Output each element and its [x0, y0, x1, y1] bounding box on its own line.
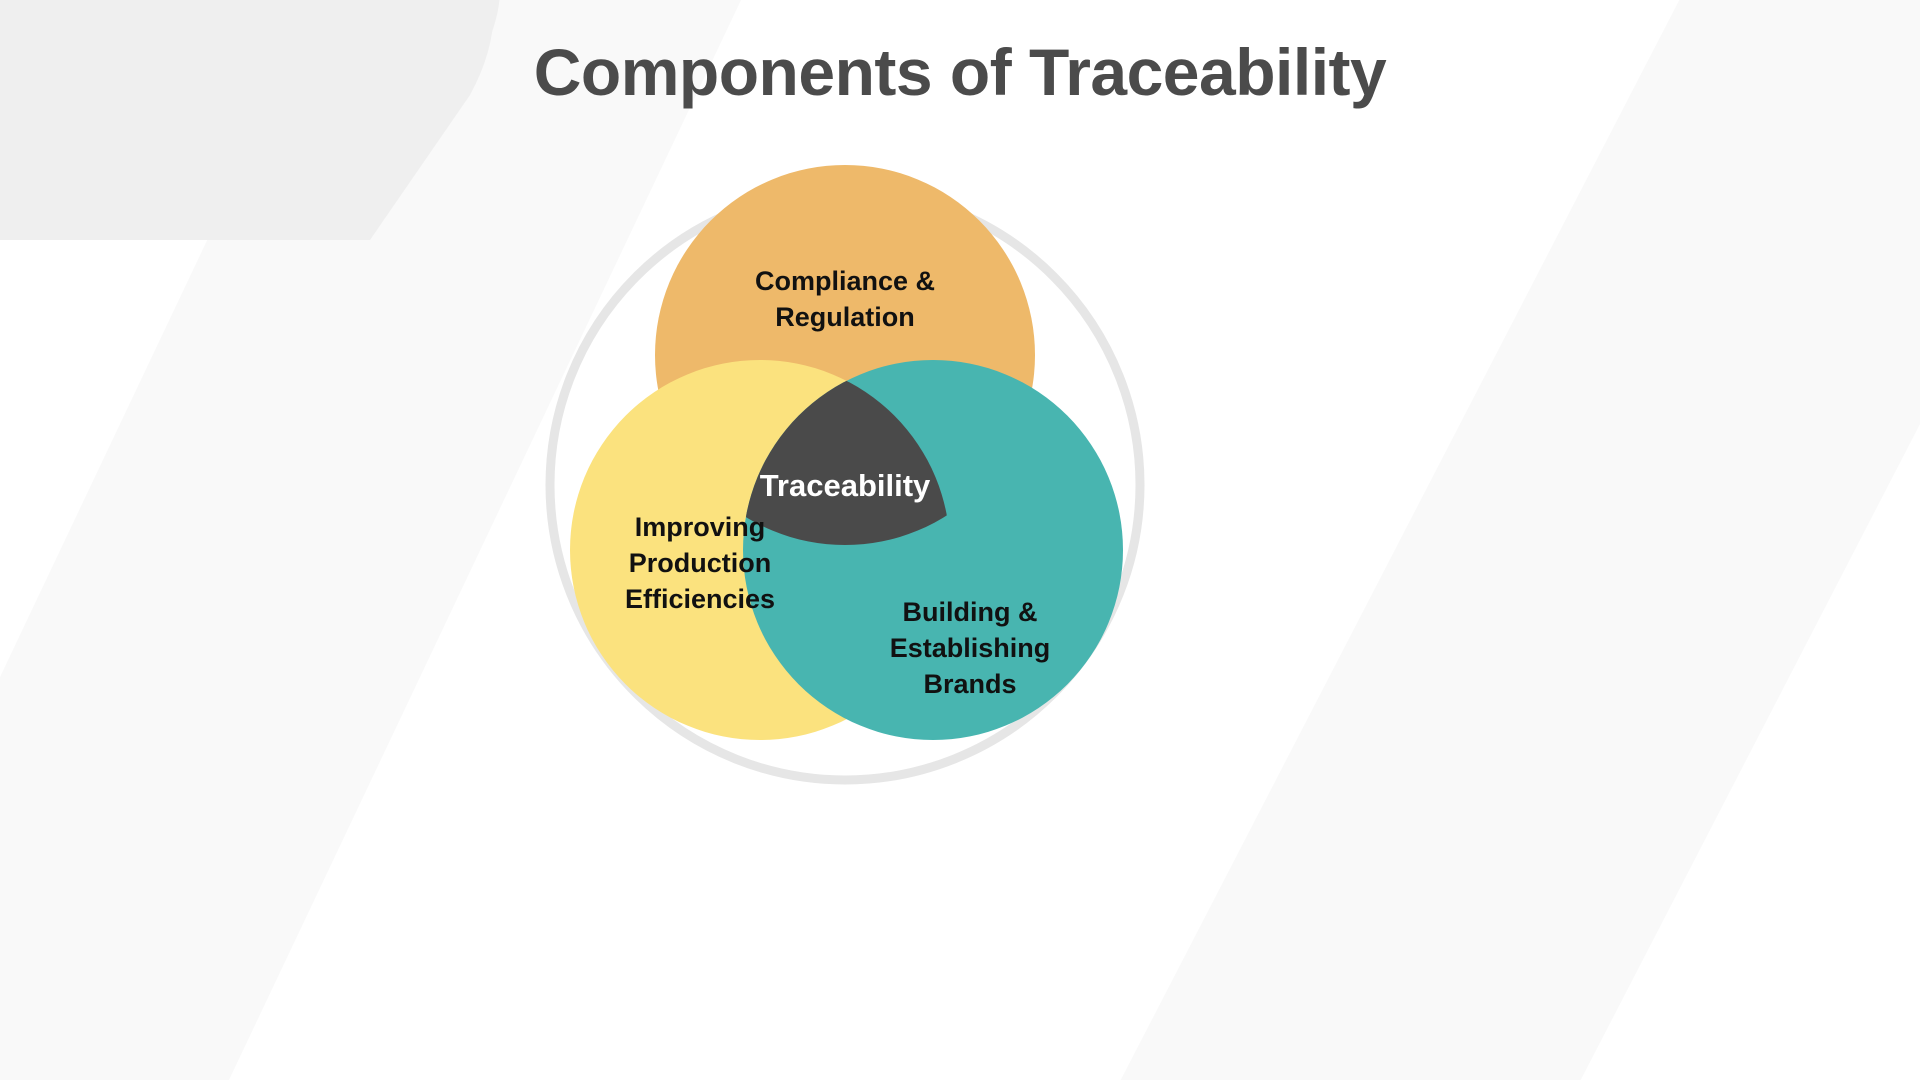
diagonal-stripe-right	[1100, 0, 1920, 1080]
venn-label-brands-line-3: Brands	[923, 669, 1016, 699]
venn-svg: Compliance & Regulation Improving Produc…	[515, 130, 1175, 850]
venn-label-brands-line-1: Building &	[903, 597, 1038, 627]
venn-label-efficiencies-line-3: Efficiencies	[625, 584, 775, 614]
venn-label-compliance-line-1: Compliance &	[755, 266, 935, 296]
venn-label-brands-line-2: Establishing	[890, 633, 1051, 663]
venn-label-efficiencies-line-2: Production	[629, 548, 772, 578]
venn-label-compliance-line-2: Regulation	[775, 302, 915, 332]
venn-label-traceability: Traceability	[760, 468, 931, 503]
venn-diagram: Compliance & Regulation Improving Produc…	[515, 130, 1175, 850]
venn-label-efficiencies-line-1: Improving	[635, 512, 766, 542]
page-title: Components of Traceability	[0, 36, 1920, 109]
